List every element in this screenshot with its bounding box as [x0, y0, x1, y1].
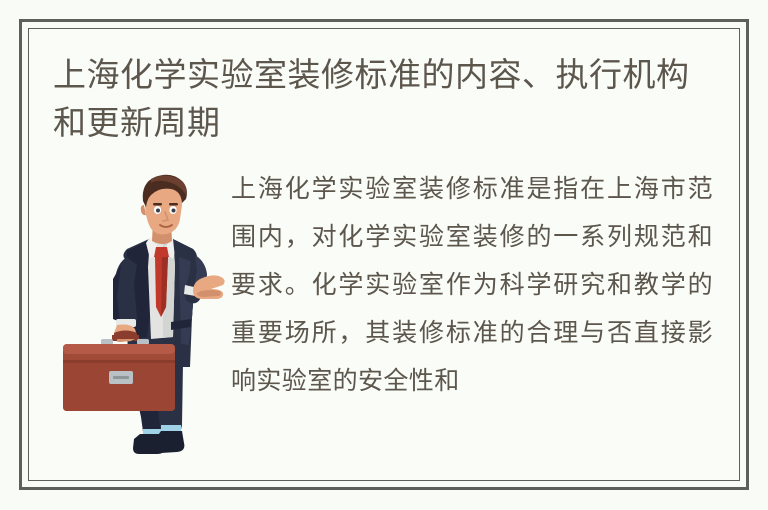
article-card-inner-border: 上海化学实验室装修标准的内容、执行机构和更新周期 [28, 28, 740, 481]
businessman-with-briefcase-illustration [51, 167, 231, 467]
article-body-row: 上海化学实验室装修标准是指在上海市范围内，对化学实验室装修的一系列规范和要求。化… [51, 167, 717, 467]
article-body-text: 上海化学实验室装修标准是指在上海市范围内，对化学实验室装修的一系列规范和要求。化… [231, 165, 717, 405]
article-content: 上海化学实验室装修标准的内容、执行机构和更新周期 [29, 29, 739, 480]
page-title: 上海化学实验室装修标准的内容、执行机构和更新周期 [51, 51, 717, 147]
article-card: 上海化学实验室装修标准的内容、执行机构和更新周期 [19, 19, 749, 490]
